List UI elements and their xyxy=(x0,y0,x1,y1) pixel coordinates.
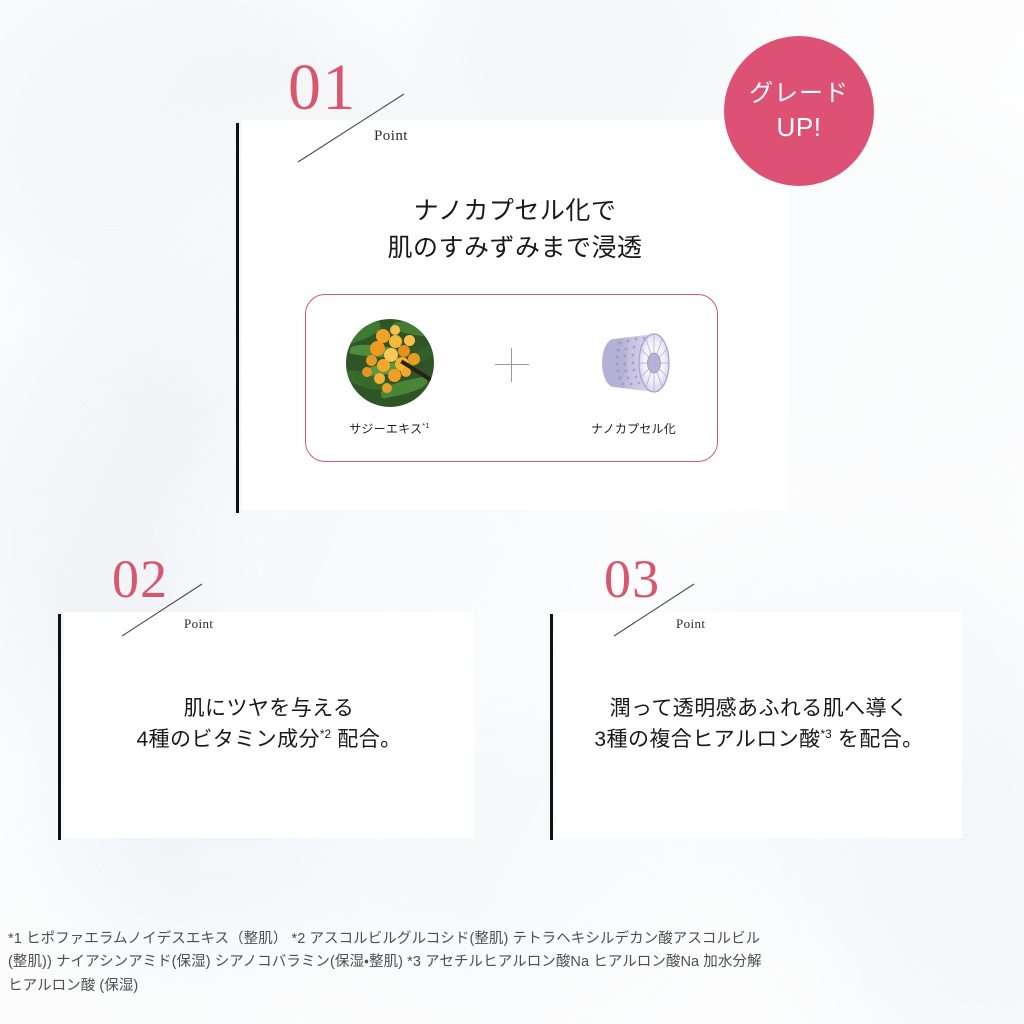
badge-line1: グレード xyxy=(749,78,849,110)
ingredient-caption-text: サジーエキス xyxy=(349,422,422,436)
point-card-01-headline: ナノカプセル化で 肌のすみずみまで浸透 xyxy=(262,193,768,267)
point-card-02-headline-line2-post: 配合。 xyxy=(331,728,402,751)
point-card-01-headline-line1: ナノカプセル化で xyxy=(414,197,617,225)
point-card-03-headline-line1: 潤って透明感あふれる肌へ導く xyxy=(610,697,909,720)
point-card-01-left-rule xyxy=(236,123,239,513)
footnotes: *1 ヒポファエラムノイデスエキス（整肌） *2 アスコルビルグルコシド(整肌)… xyxy=(8,928,1016,998)
footnote-line-3: ヒアルロン酸 (保湿) xyxy=(8,975,1016,998)
point-card-02-left-rule xyxy=(58,614,61,840)
point-card-02-point-label: Point xyxy=(184,616,213,632)
point-card-03-headline-line2-pre: 3種の複合ヒアルロン酸 xyxy=(594,728,820,751)
point-card-03-headline-line2-post: を配合。 xyxy=(832,728,924,751)
footnote-line-2: (整肌)) ナイアシンアミド(保湿) シアノコバラミン(保湿・整肌) *3 アセ… xyxy=(8,951,1016,974)
point-card-02-headline-line2-pre: 4種のビタミン成分 xyxy=(136,728,319,751)
plus-icon xyxy=(495,348,529,382)
point-card-02-headline-line1: 肌にツヤを与える xyxy=(184,697,355,720)
point-card-01-headline-line2: 肌のすみずみまで浸透 xyxy=(387,234,642,262)
point-card-02-headline-note: *2 xyxy=(320,728,331,741)
ingredient-caption-nanocapsule: ナノカプセル化 xyxy=(591,420,676,437)
grade-up-badge: グレード UP! xyxy=(724,36,874,186)
point-card-03-headline: 潤って透明感あふれる肌へ導く 3種の複合ヒアルロン酸*3 を配合。 xyxy=(566,693,952,755)
ingredient-row: サジーエキス*1 xyxy=(306,295,717,461)
point-card-02-headline: 肌にツヤを与える 4種のビタミン成分*2 配合。 xyxy=(74,693,464,755)
point-card-01-point-label: Point xyxy=(374,128,408,145)
ingredient-caption-note: *1 xyxy=(422,421,430,430)
nano-capsule-illustration xyxy=(590,319,678,407)
point-card-03-point-label: Point xyxy=(676,616,705,632)
ingredient-caption-sajii: サジーエキス*1 xyxy=(349,420,430,437)
ingredient-box: サジーエキス*1 xyxy=(305,294,718,462)
point-card-03-left-rule xyxy=(550,614,553,840)
ingredient-sajii: サジーエキス*1 xyxy=(331,319,449,437)
badge-line2: UP! xyxy=(777,110,822,144)
sea-buckthorn-photo xyxy=(346,319,434,407)
ingredient-nanocapsule: ナノカプセル化 xyxy=(575,319,693,437)
ingredient-caption-text: ナノカプセル化 xyxy=(591,422,676,436)
footnote-line-1: *1 ヒポファエラムノイデスエキス（整肌） *2 アスコルビルグルコシド(整肌)… xyxy=(8,928,1016,951)
point-card-03-headline-note: *3 xyxy=(821,728,832,741)
